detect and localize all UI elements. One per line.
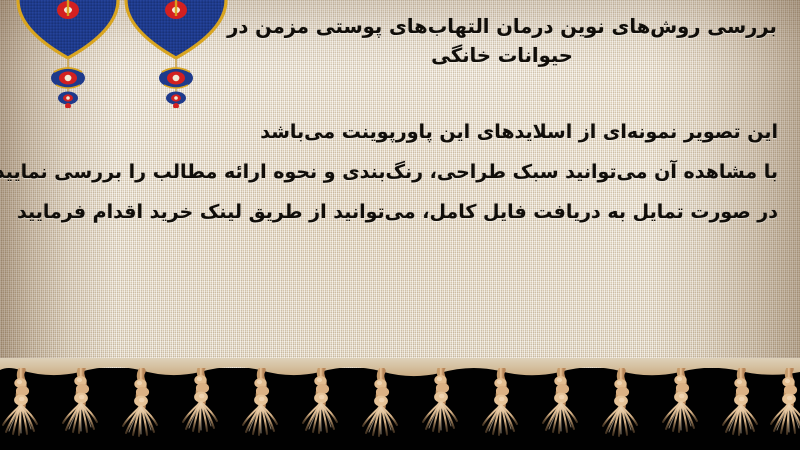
slide-title-line-1: بررسی روش‌های نوین درمان التهاب‌های پوست… [222, 12, 782, 41]
slide-title: بررسی روش‌های نوین درمان التهاب‌های پوست… [222, 12, 782, 70]
slide-canvas: بررسی روش‌های نوین درمان التهاب‌های پوست… [0, 0, 800, 450]
carpet-fringe-tassels [0, 368, 800, 450]
slide-body-text: این تصویر نمونه‌ای از اسلایدهای این پاور… [20, 112, 778, 232]
carpet-medallion-icon [122, 0, 230, 112]
body-line-1: این تصویر نمونه‌ای از اسلایدهای این پاور… [20, 112, 778, 152]
body-line-2: با مشاهده آن می‌توانید سبک طراحی، رنگ‌بن… [20, 152, 778, 192]
carpet-medallion-icon [14, 0, 122, 112]
body-line-3: در صورت تمایل به دریافت فایل کامل، می‌تو… [20, 192, 778, 232]
slide-title-line-2: حیوانات خانگی [222, 41, 782, 70]
